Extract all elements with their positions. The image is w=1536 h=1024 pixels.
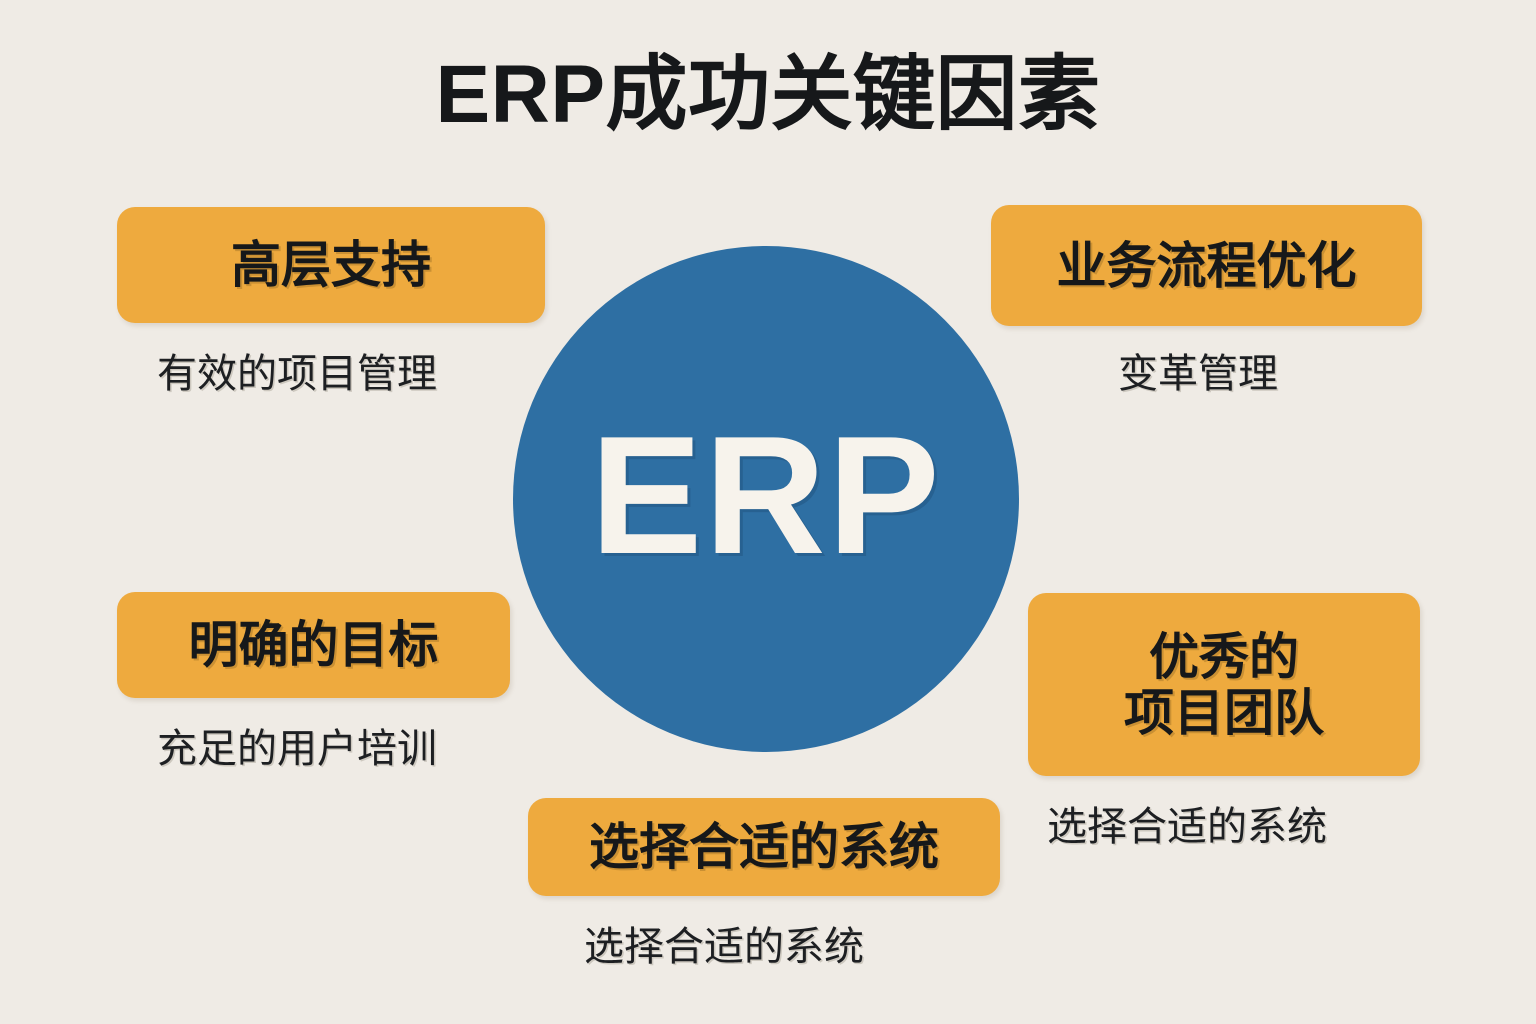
factor-badge-label: 优秀的 项目团队 xyxy=(1124,629,1324,741)
center-hub-circle: ERP xyxy=(513,246,1019,752)
page-title: ERP成功关键因素 xyxy=(0,52,1536,138)
diagram-canvas: ERP成功关键因素 ERP 高层支持 有效的项目管理 业务流程优化 变革管理 明… xyxy=(0,0,1536,1024)
factor-caption-bottom-left: 充足的用户培训 xyxy=(157,727,437,771)
factor-caption-top-left: 有效的项目管理 xyxy=(157,352,437,396)
factor-badge-label: 选择合适的系统 xyxy=(589,819,939,875)
factor-badge-bottom-left[interactable]: 明确的目标 xyxy=(117,592,510,698)
factor-badge-label: 明确的目标 xyxy=(189,617,439,673)
center-hub-label: ERP xyxy=(590,411,941,579)
factor-caption-bottom-center: 选择合适的系统 xyxy=(584,925,864,969)
factor-caption-top-right: 变革管理 xyxy=(1118,352,1278,396)
factor-badge-bottom-center[interactable]: 选择合适的系统 xyxy=(528,798,1000,896)
factor-badge-top-left[interactable]: 高层支持 xyxy=(117,207,545,323)
factor-badge-bottom-right[interactable]: 优秀的 项目团队 xyxy=(1028,593,1420,776)
factor-badge-label: 高层支持 xyxy=(231,237,431,293)
factor-caption-bottom-right: 选择合适的系统 xyxy=(1047,805,1327,849)
factor-badge-top-right[interactable]: 业务流程优化 xyxy=(991,205,1422,326)
factor-badge-label: 业务流程优化 xyxy=(1057,238,1357,294)
